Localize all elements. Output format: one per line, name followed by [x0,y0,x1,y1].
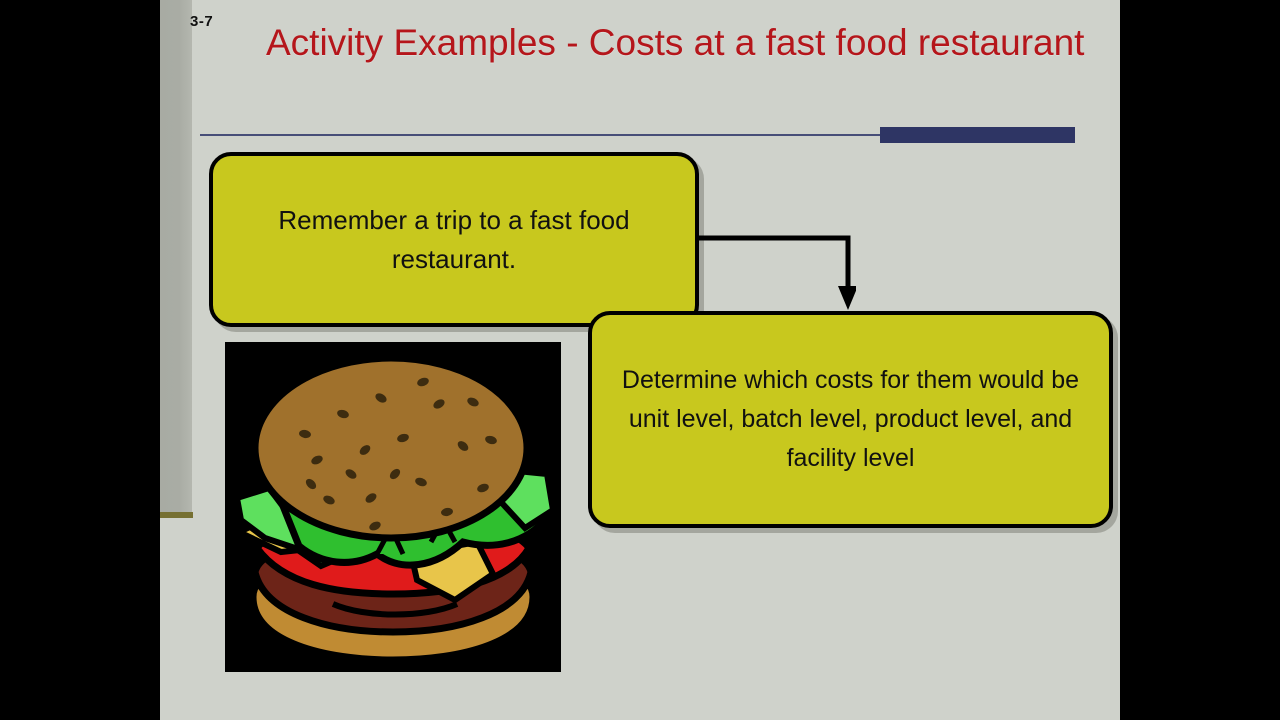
screenshot-root: 3-7 Activity Examples - Costs at a fast … [0,0,1280,720]
slide-side-band-foot [160,512,193,518]
presentation-slide: 3-7 Activity Examples - Costs at a fast … [160,0,1120,720]
page-title: Activity Examples - Costs at a fast food… [266,16,1086,70]
callout-two-text: Determine which costs for them would be … [592,361,1109,478]
elbow-arrow-icon [696,232,856,314]
callout-one-text: Remember a trip to a fast food restauran… [213,201,695,279]
callout-box-remember: Remember a trip to a fast food restauran… [209,152,699,327]
slide-number: 3-7 [190,13,213,30]
title-accent-bar [880,127,1075,143]
hamburger-clipart-image [225,342,561,672]
callout-box-determine: Determine which costs for them would be … [588,311,1113,528]
slide-side-band [160,0,192,512]
